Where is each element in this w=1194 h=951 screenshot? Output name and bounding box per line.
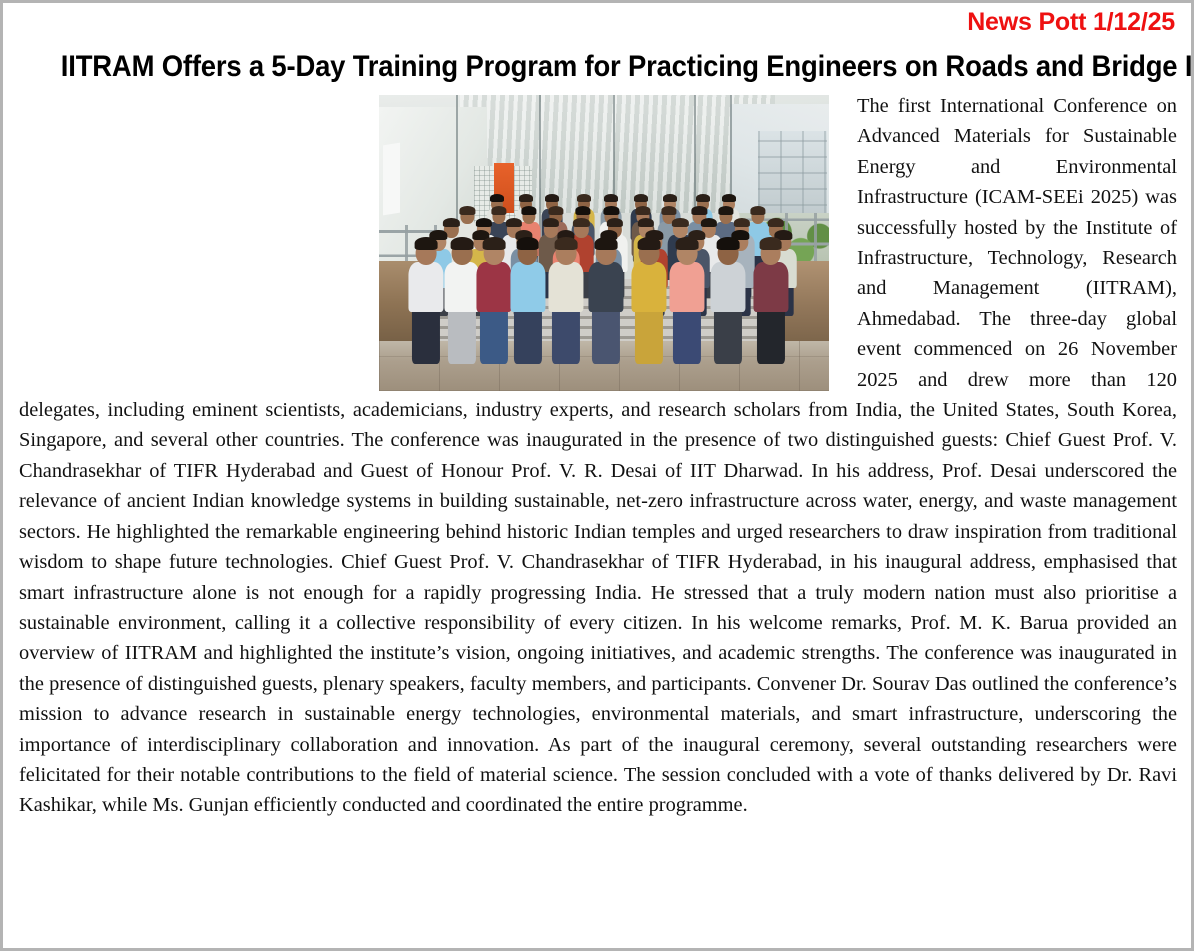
- group-photo: [379, 95, 829, 391]
- photo-person-hair: [545, 194, 559, 202]
- photo-person-legs: [714, 310, 742, 364]
- photo-person-legs: [673, 310, 701, 364]
- photo-person-legs: [448, 310, 476, 364]
- photo-person-hair: [443, 218, 459, 227]
- photo-person-hair: [663, 194, 677, 202]
- photo-person-legs: [513, 310, 541, 364]
- article-headline: IITRAM Offers a 5-Day Training Program f…: [61, 49, 1133, 85]
- photo-person-torso: [409, 262, 444, 312]
- photo-person-hair: [575, 206, 590, 215]
- photo-person-hair: [491, 206, 506, 215]
- photo-person-hair: [722, 194, 736, 202]
- photo-person-torso: [710, 262, 745, 312]
- photo-person-hair: [638, 218, 654, 227]
- photo-person-torso: [631, 262, 666, 312]
- photo-person-hair: [767, 218, 783, 227]
- photo-person-torso: [670, 262, 705, 312]
- photo-person-hair: [718, 206, 733, 215]
- photo-person-hair: [750, 206, 765, 215]
- photo-person-torso: [476, 262, 511, 312]
- photo-person-hair: [604, 206, 619, 215]
- photo-person-legs: [480, 310, 508, 364]
- photo-person-hair: [573, 218, 589, 227]
- photo-person-hair: [451, 237, 474, 249]
- photo-person-hair: [634, 194, 648, 202]
- photo-person-front-row: [476, 237, 511, 362]
- photo-person-front-row: [753, 237, 788, 362]
- photo-person-hair: [482, 237, 505, 249]
- photo-person-hair: [521, 206, 536, 215]
- photo-person-torso: [753, 262, 788, 312]
- photo-person-hair: [661, 206, 676, 215]
- masthead: News Pott 1/12/25: [3, 3, 1191, 47]
- photo-person-hair: [676, 237, 699, 249]
- photo-person-torso: [548, 262, 583, 312]
- photo-person-hair: [506, 218, 522, 227]
- photo-person-hair: [635, 206, 650, 215]
- photo-person-hair: [595, 237, 618, 249]
- article-photo-figure: [379, 95, 829, 391]
- photo-person-front-row: [670, 237, 705, 362]
- photo-person-legs: [592, 310, 620, 364]
- photo-person-hair: [554, 237, 577, 249]
- photo-person-hair: [460, 206, 475, 215]
- photo-person-legs: [412, 310, 440, 364]
- photo-person-front-row: [510, 237, 545, 362]
- photo-person-hair: [672, 218, 688, 227]
- photo-person-hair: [604, 194, 618, 202]
- article-body: The first International Conference on Ad…: [19, 91, 1177, 821]
- photo-person-hair: [759, 237, 782, 249]
- photo-person-front-row: [548, 237, 583, 362]
- photo-person-hair: [519, 194, 533, 202]
- photo-alt-text: ICAM-SEEi 2025 conference group photo: [3, 821, 4, 822]
- photo-person-torso: [589, 262, 624, 312]
- photo-person-hair: [701, 218, 717, 227]
- photo-person-legs: [756, 310, 784, 364]
- photo-person-front-row: [445, 237, 480, 362]
- photo-person-torso: [510, 262, 545, 312]
- photo-person-hair: [516, 237, 539, 249]
- publication-name-and-date: News Pott 1/12/25: [967, 7, 1175, 37]
- photo-person-hair: [734, 218, 750, 227]
- photo-person-hair: [415, 237, 438, 249]
- photo-crowd: [379, 95, 829, 391]
- photo-person-hair: [696, 194, 710, 202]
- photo-person-front-row: [710, 237, 745, 362]
- photo-person-hair: [638, 237, 661, 249]
- photo-person-hair: [543, 218, 559, 227]
- photo-person-hair: [548, 206, 563, 215]
- newspaper-page: News Pott 1/12/25 IITRAM Offers a 5-Day …: [0, 0, 1194, 951]
- photo-person-hair: [490, 194, 504, 202]
- photo-person-hair: [476, 218, 492, 227]
- photo-person-hair: [692, 206, 707, 215]
- photo-person-legs: [635, 310, 663, 364]
- photo-person-front-row: [409, 237, 444, 362]
- photo-person-front-row: [589, 237, 624, 362]
- photo-person-hair: [577, 194, 591, 202]
- photo-person-hair: [607, 218, 623, 227]
- photo-person-legs: [552, 310, 580, 364]
- photo-person-hair: [716, 237, 739, 249]
- photo-person-torso: [445, 262, 480, 312]
- photo-person-front-row: [631, 237, 666, 362]
